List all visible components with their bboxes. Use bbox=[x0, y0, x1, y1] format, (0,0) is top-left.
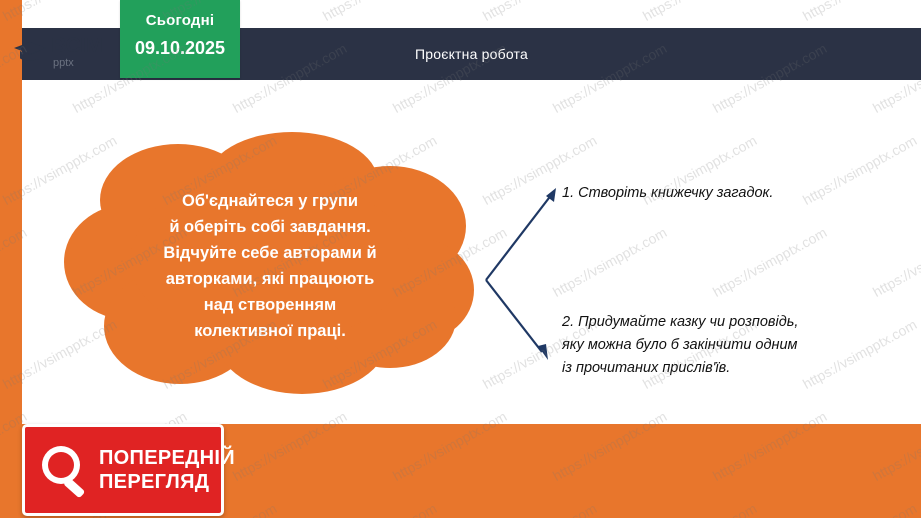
watermark-text: https://vsimpptx.com bbox=[480, 0, 599, 24]
watermark-text: https://vsimpptx.com bbox=[640, 0, 759, 24]
preview-badge-text: ПОПЕРЕДНІЙ ПЕРЕГЛЯД bbox=[99, 446, 235, 494]
task-item-1: 1. Створіть книжечку загадок. bbox=[562, 182, 892, 205]
task-item-2: 2. Придумайте казку чи розповідь,яку мож… bbox=[562, 311, 882, 380]
preview-badge: ПОПЕРЕДНІЙ ПЕРЕГЛЯД bbox=[22, 424, 224, 516]
cloud-text: Об'єднайтеся у групий оберіть собі завда… bbox=[60, 188, 480, 344]
date-badge-label: Сьогодні bbox=[120, 12, 240, 29]
text-line: яку можна було б закінчити одним bbox=[562, 334, 882, 357]
text-line: авторками, які працюють bbox=[60, 266, 480, 292]
text-line: Об'єднайтеся у групи bbox=[60, 188, 480, 214]
magnifier-icon bbox=[33, 439, 95, 501]
slide-canvas: Проєктна робота ВCІМ pptx Сьогодні 09.10… bbox=[0, 0, 921, 518]
logo-title: ВCІМ bbox=[51, 35, 103, 56]
text-line: із прочитаних прислів'їв. bbox=[562, 357, 882, 380]
preview-badge-line2: ПЕРЕГЛЯД bbox=[99, 470, 235, 494]
watermark-text: https://vsimpptx.com bbox=[320, 0, 439, 24]
preview-badge-line1: ПОПЕРЕДНІЙ bbox=[99, 446, 235, 470]
date-badge-value: 09.10.2025 bbox=[120, 38, 240, 59]
watermark-text: https://vsimpptx.com bbox=[800, 0, 919, 24]
text-line: колективної праці. bbox=[60, 318, 480, 344]
text-line: й оберіть собі завдання. bbox=[60, 214, 480, 240]
text-line: над створенням bbox=[60, 292, 480, 318]
text-line: 2. Придумайте казку чи розповідь, bbox=[562, 311, 882, 334]
logo-text: ВCІМ pptx bbox=[51, 35, 103, 69]
arrowhead-down-icon bbox=[538, 344, 548, 360]
text-line: Відчуйте себе авторами й bbox=[60, 240, 480, 266]
text-line: 1. Створіть книжечку загадок. bbox=[562, 182, 892, 205]
cloud-callout: Об'єднайтеся у групий оберіть собі завда… bbox=[60, 130, 480, 400]
date-badge: Сьогодні 09.10.2025 bbox=[120, 0, 240, 78]
logo-subtitle: pptx bbox=[53, 58, 103, 69]
brand-logo: ВCІМ pptx bbox=[10, 28, 120, 76]
graduation-cap-icon bbox=[10, 34, 50, 70]
